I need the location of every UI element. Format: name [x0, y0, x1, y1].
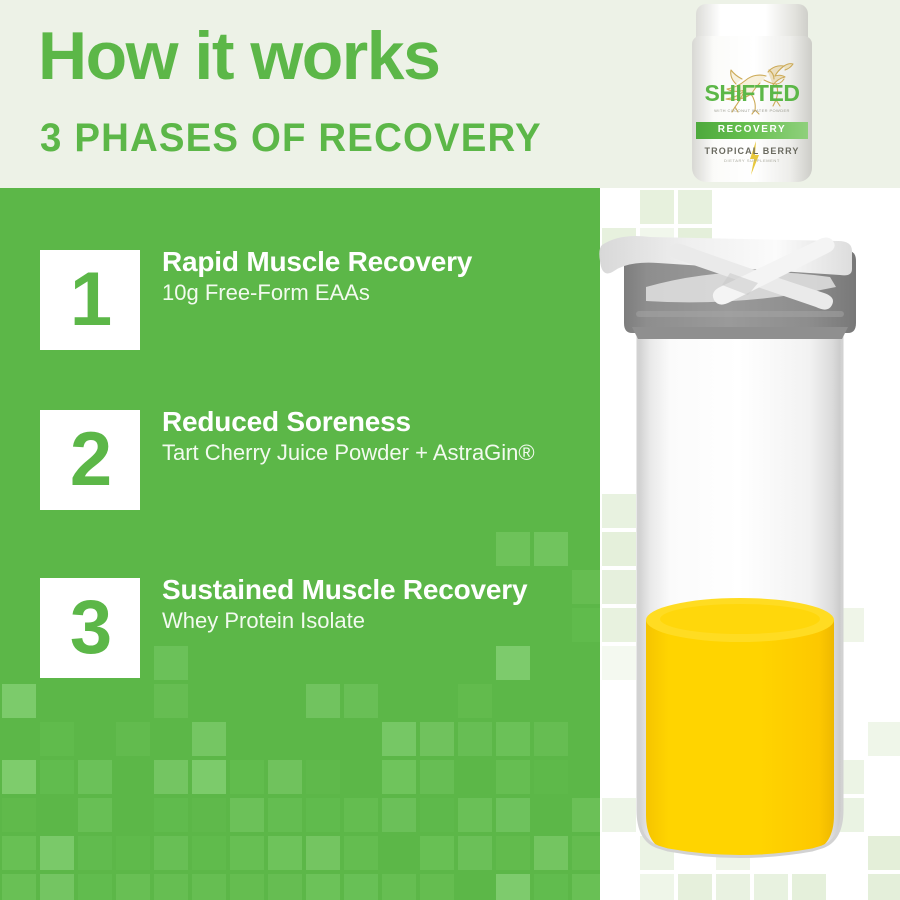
page-subtitle: 3 PHASES OF RECOVERY — [40, 118, 542, 158]
phase-title: Reduced Soreness — [162, 406, 600, 438]
phase-description: Tart Cherry Juice Powder + AstraGin® — [162, 440, 600, 467]
tub-body: SHIFTED WITH COCONUT WATER POWDER RECOVE… — [692, 36, 812, 182]
phase-text-group: Rapid Muscle Recovery 10g Free-Form EAAs — [162, 246, 600, 307]
phase-title: Rapid Muscle Recovery — [162, 246, 600, 278]
phase-number: 1 — [70, 262, 110, 338]
product-tub-image: SHIFTED WITH COCONUT WATER POWDER RECOVE… — [690, 4, 814, 182]
phase-title: Sustained Muscle Recovery — [162, 574, 600, 606]
tub-band-label: RECOVERY — [692, 124, 812, 135]
phase-description: 10g Free-Form EAAs — [162, 280, 600, 307]
tub-flavor: TROPICAL BERRY — [692, 146, 812, 156]
phase-number-box: 2 — [40, 410, 140, 510]
shaker-bottle-image — [580, 215, 900, 900]
green-content-panel: 1 Rapid Muscle Recovery 10g Free-Form EA… — [0, 188, 600, 900]
tub-flavor-sub: DIETARY SUPPLEMENT — [692, 158, 812, 163]
phase-number-box: 3 — [40, 578, 140, 678]
page-title: How it works — [38, 22, 439, 91]
infographic-canvas: How it works 3 PHASES OF RECOVERY SHIFTE… — [0, 0, 900, 900]
phase-description: Whey Protein Isolate — [162, 608, 600, 635]
phase-text-group: Sustained Muscle Recovery Whey Protein I… — [162, 574, 600, 635]
phase-number: 2 — [70, 422, 110, 498]
tub-tagline: WITH COCONUT WATER POWDER — [692, 108, 812, 113]
phase-number-box: 1 — [40, 250, 140, 350]
tub-brand-name: SHIFTED — [692, 80, 812, 107]
phase-number: 3 — [70, 590, 110, 666]
phase-text-group: Reduced Soreness Tart Cherry Juice Powde… — [162, 406, 600, 467]
